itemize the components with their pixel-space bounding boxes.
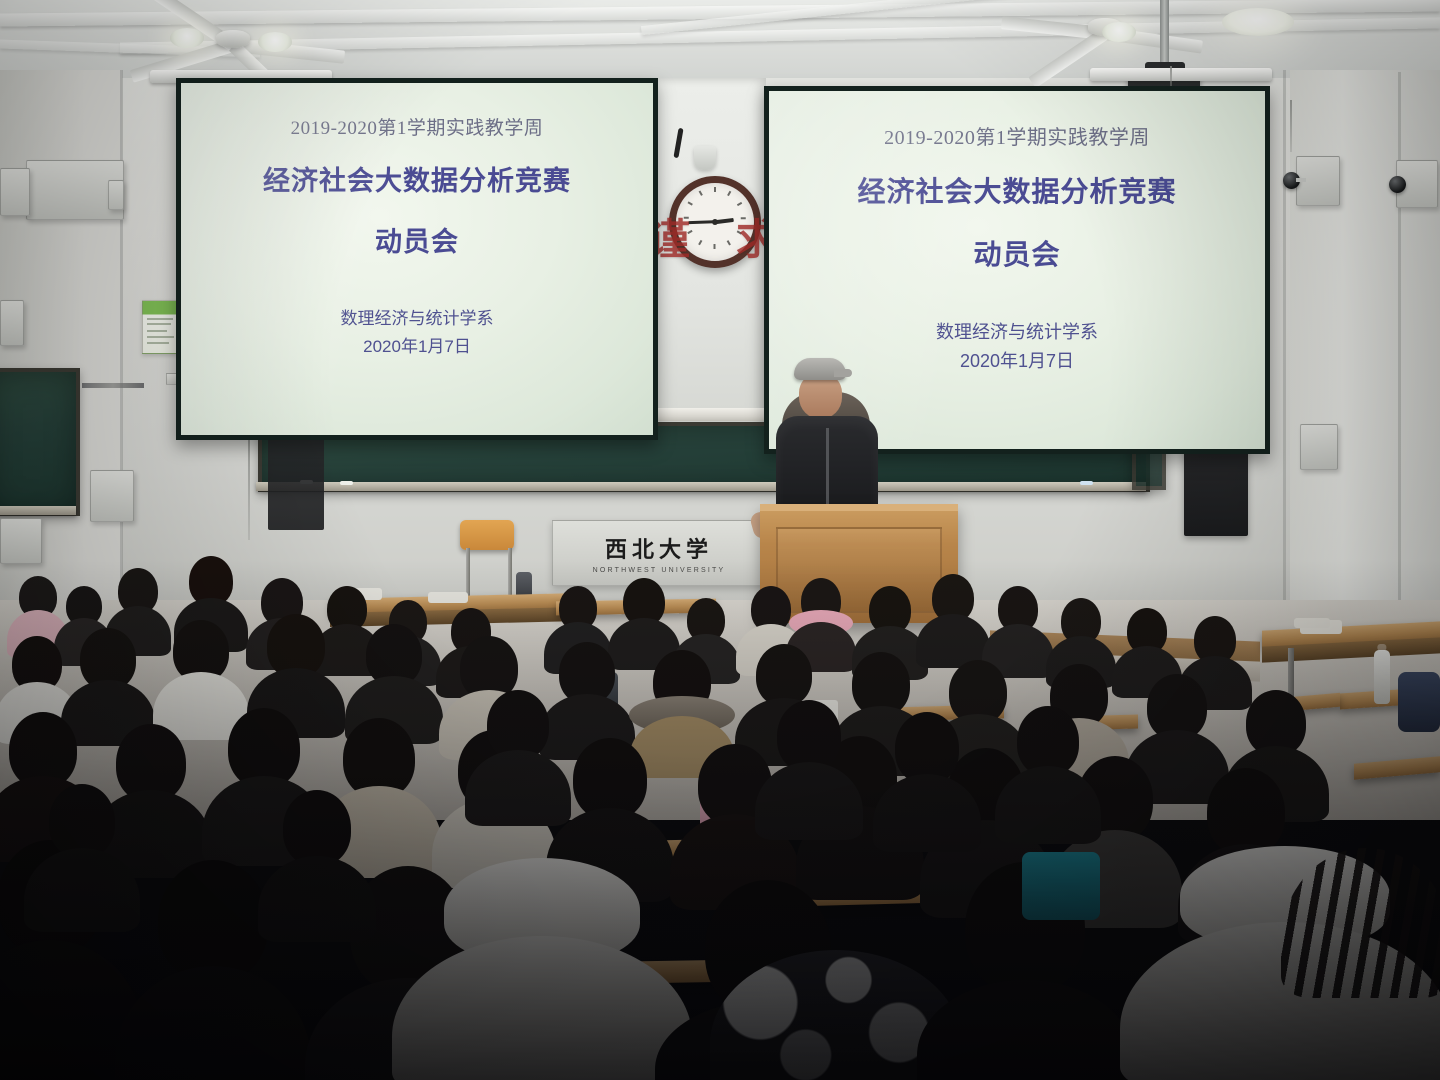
chair-leg — [508, 548, 512, 598]
wall-notice-poster — [142, 300, 180, 354]
projector-mount-pole — [1160, 0, 1169, 66]
wall-cable — [1290, 100, 1292, 152]
wall-outlet-box[interactable] — [1300, 424, 1338, 470]
wall-corner-seam — [120, 70, 123, 615]
led-light-icon — [1222, 8, 1294, 36]
classroom-photo: 谨 求 2019-2020第1学期实践教学周 经济社会大数据分析竞赛 动员会 数… — [0, 0, 1440, 1080]
wall-corner-seam — [1398, 72, 1401, 632]
alcove-shelf — [650, 408, 766, 421]
university-sign: 西北大学 NORTHWEST UNIVERSITY — [552, 520, 766, 586]
dome-camera-icon — [1389, 176, 1406, 193]
clock-minute-hand — [688, 221, 715, 224]
slide-department: 数理经济与统计学系 — [936, 319, 1098, 346]
chair-leg — [466, 548, 470, 598]
audience-member-hair — [1286, 848, 1440, 998]
stage-chair[interactable] — [460, 520, 514, 550]
university-name-en: NORTHWEST UNIVERSITY — [593, 567, 726, 574]
audience-member — [470, 690, 566, 810]
wall-panel — [0, 300, 24, 346]
projection-screen-left: 2019-2020第1学期实践教学周 经济社会大数据分析竞赛 动员会 数理经济与… — [176, 78, 658, 440]
slide-date: 2020年1月7日 — [363, 334, 471, 360]
ceiling-fan-icon — [1000, 0, 1210, 54]
slide-kicker: 2019-2020第1学期实践教学周 — [291, 113, 544, 140]
audience-member-white-puffer — [392, 852, 692, 1080]
chalk-tray — [0, 506, 76, 515]
flat-cap — [794, 358, 846, 380]
paper-sheet — [1294, 618, 1330, 628]
audience-member — [30, 784, 134, 922]
ceiling-fan-icon — [118, 8, 348, 70]
white-thermos — [1374, 650, 1390, 704]
wall-outlet-box[interactable] — [90, 470, 134, 522]
blue-backpack — [1398, 672, 1440, 732]
university-name-cn: 西北大学 — [605, 532, 713, 564]
wall-corner-seam — [1283, 70, 1286, 650]
chalk-piece — [1080, 481, 1093, 485]
slide-department: 数理经济与统计学系 — [341, 306, 494, 332]
chalk-tray — [256, 482, 1146, 491]
wall-cabinet — [0, 518, 42, 564]
audience-member — [920, 574, 986, 662]
wall-cable — [248, 430, 250, 540]
projector-screen-rail — [1090, 68, 1272, 81]
slide-date: 2020年1月7日 — [960, 348, 1074, 375]
audience-member — [1000, 706, 1096, 828]
side-chalkboard — [0, 368, 80, 516]
camera-arm — [1296, 178, 1306, 182]
wall-unit-panel — [0, 168, 30, 216]
slide-title-line1: 经济社会大数据分析竞赛 — [857, 172, 1176, 213]
audience-member — [878, 712, 976, 836]
slide-title-line2: 动员会 — [375, 223, 459, 262]
wall-trim-strip — [82, 383, 144, 388]
slide-kicker: 2019-2020第1学期实践教学周 — [884, 121, 1150, 150]
audience-member — [264, 790, 370, 930]
wall-lamp-icon — [694, 146, 716, 170]
speaker-presenter — [768, 358, 886, 526]
slide-title-line2: 动员会 — [973, 235, 1060, 276]
audience-member — [760, 700, 858, 824]
chalk-piece — [340, 481, 353, 485]
slide-title-line1: 经济社会大数据分析竞赛 — [263, 162, 571, 201]
slide-content-left: 2019-2020第1学期实践教学周 经济社会大数据分析竞赛 动员会 数理经济与… — [181, 83, 653, 435]
teal-garment — [1022, 852, 1100, 920]
clock-center-pin — [712, 219, 718, 225]
wall-switch-panel[interactable] — [108, 180, 124, 210]
